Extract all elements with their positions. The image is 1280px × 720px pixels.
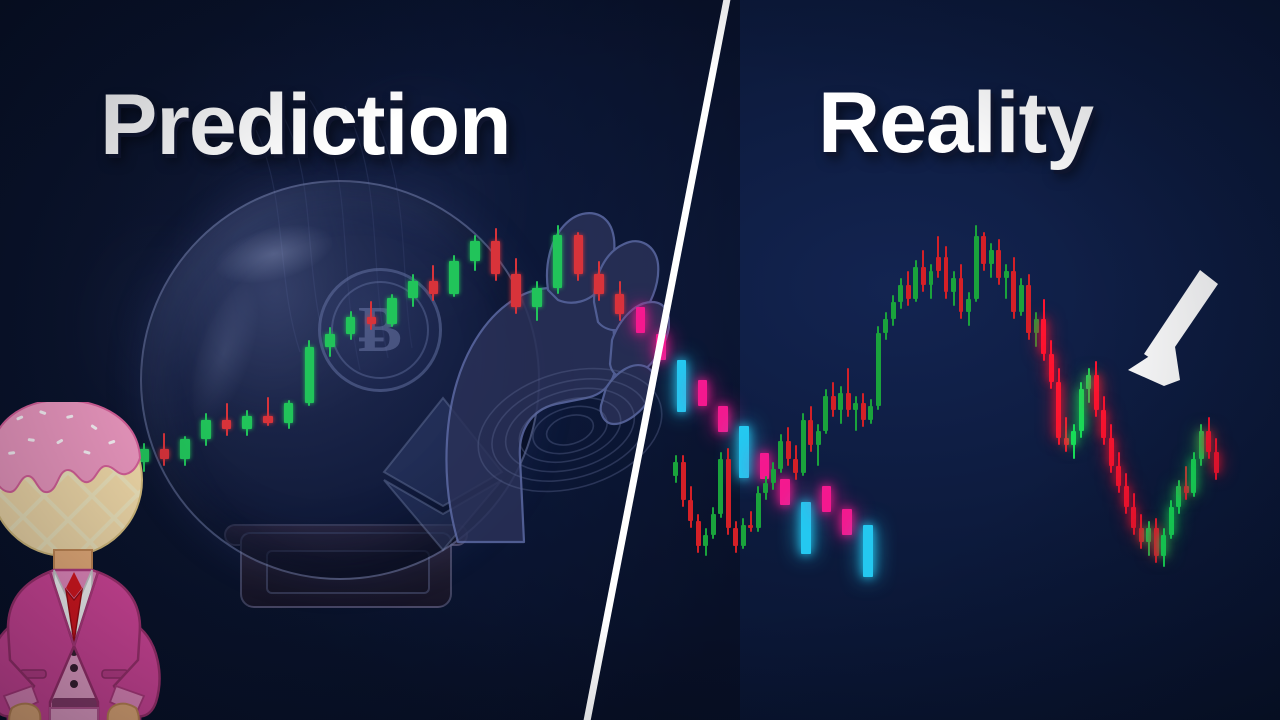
vignette-overlay: [0, 0, 1280, 720]
thumbnail-canvas: Ƀ: [0, 0, 1280, 720]
